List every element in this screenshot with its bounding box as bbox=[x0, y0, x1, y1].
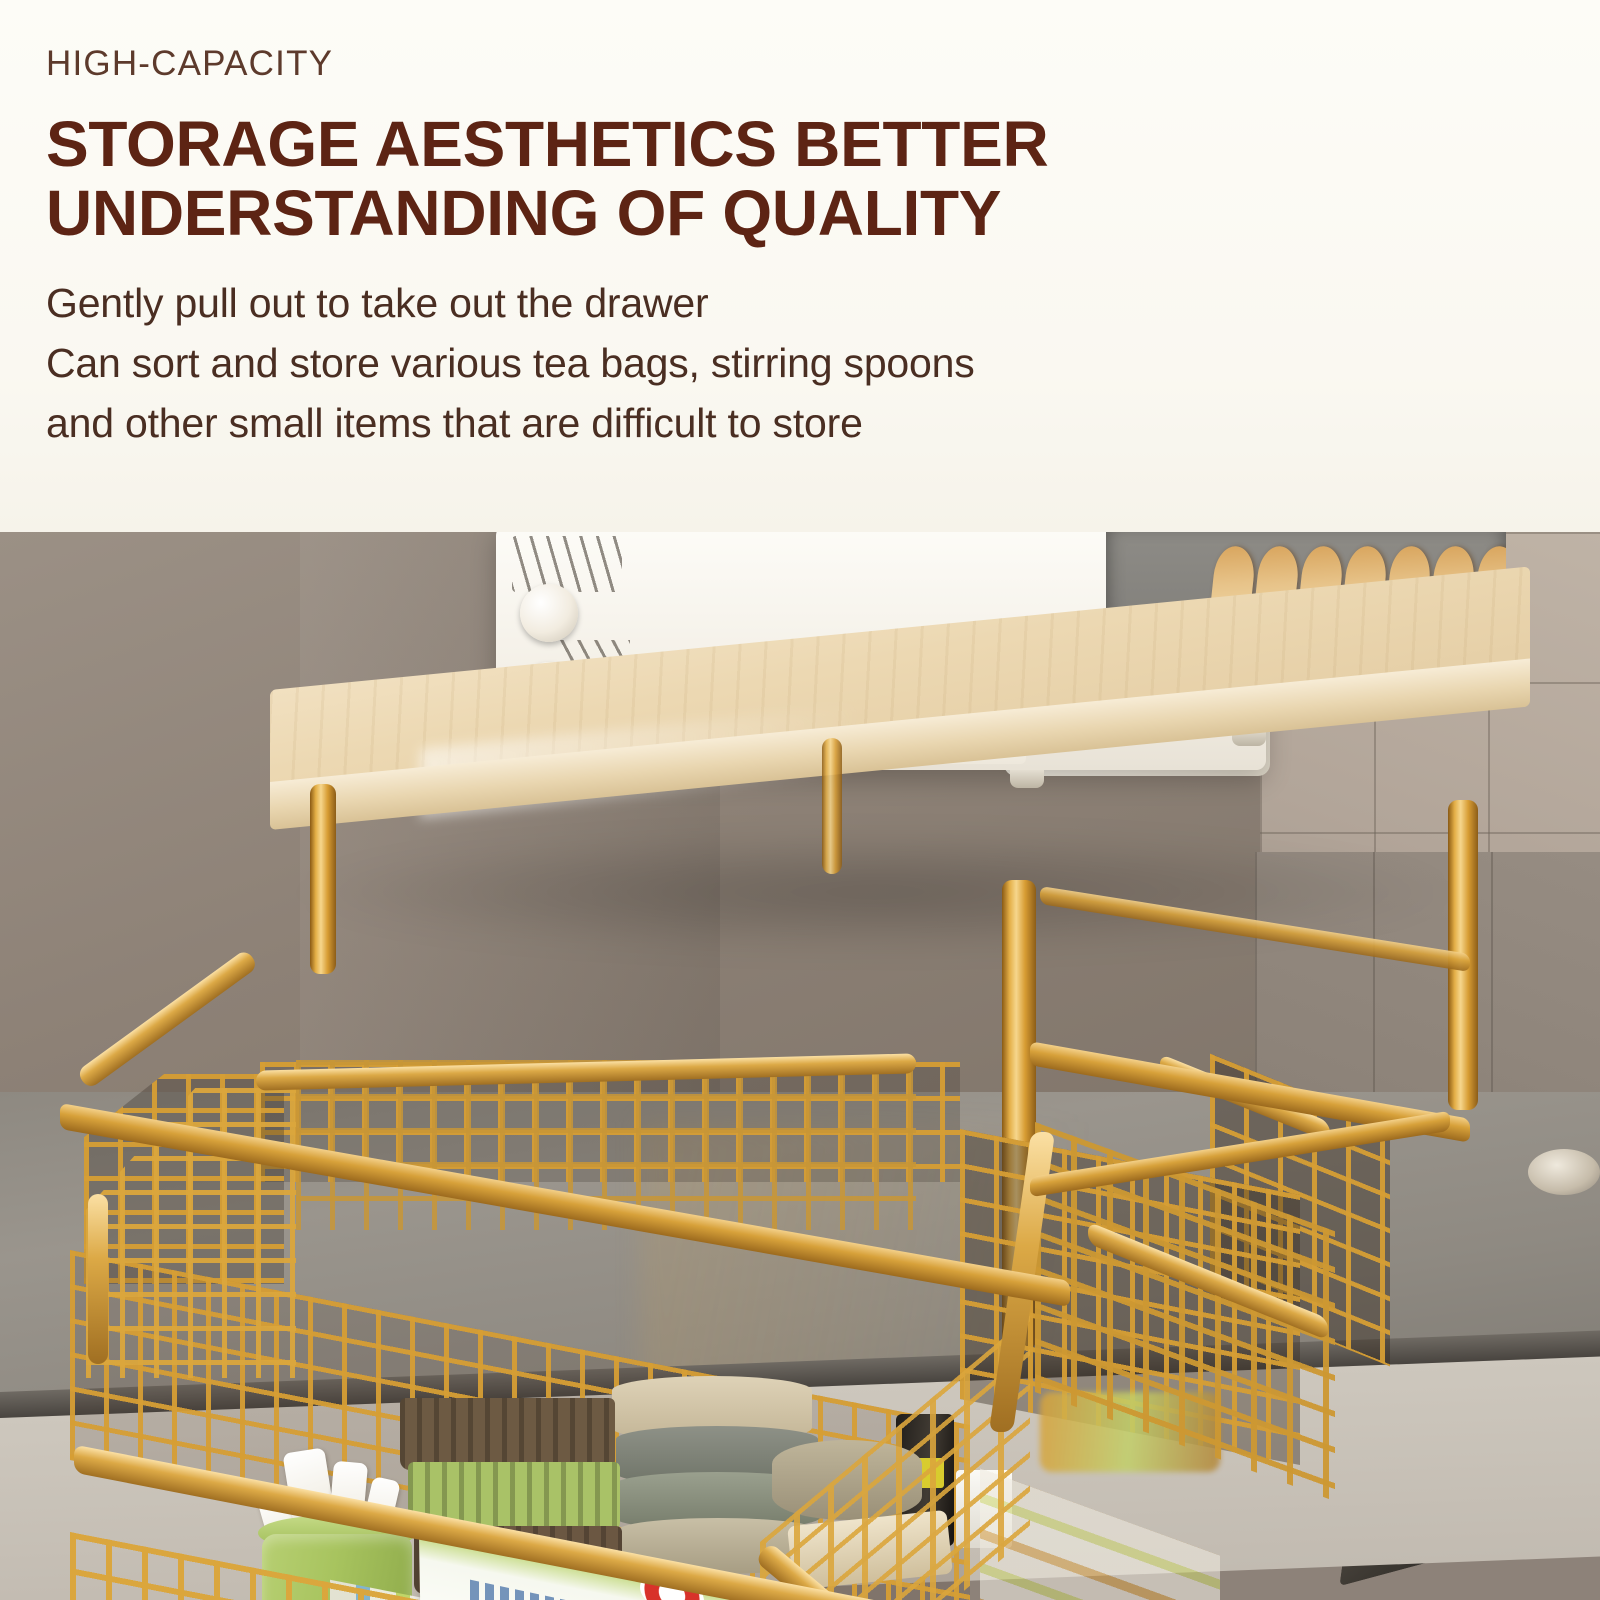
subcopy-line-2: Can sort and store various tea bags, sti… bbox=[46, 334, 1600, 394]
page-title: STORAGE AESTHETICS BETTER UNDERSTANDING … bbox=[46, 110, 1600, 248]
product-marketing-image: HIGH-CAPACITY STORAGE AESTHETICS BETTER … bbox=[0, 0, 1600, 1600]
oven-temperature-knob[interactable] bbox=[520, 584, 578, 642]
faucet-base-icon bbox=[1528, 1149, 1600, 1195]
headline-line-2: UNDERSTANDING OF QUALITY bbox=[46, 179, 1600, 248]
product-photo: auto bbox=[0, 532, 1600, 1600]
description-text: Gently pull out to take out the drawer C… bbox=[46, 274, 1600, 454]
subcopy-line-1: Gently pull out to take out the drawer bbox=[46, 274, 1600, 334]
subcopy-line-3: and other small items that are difficult… bbox=[46, 394, 1600, 454]
oven-dial-markings bbox=[512, 536, 622, 592]
text-banner: HIGH-CAPACITY STORAGE AESTHETICS BETTER … bbox=[0, 0, 1600, 532]
headline-line-1: STORAGE AESTHETICS BETTER bbox=[46, 110, 1600, 179]
shelf-leg-back-left bbox=[822, 738, 842, 874]
eyebrow-label: HIGH-CAPACITY bbox=[46, 46, 1600, 81]
basket-rim-left-vertical bbox=[88, 1194, 108, 1364]
striped-bowl bbox=[400, 1398, 615, 1470]
oven-foot bbox=[1010, 770, 1044, 788]
